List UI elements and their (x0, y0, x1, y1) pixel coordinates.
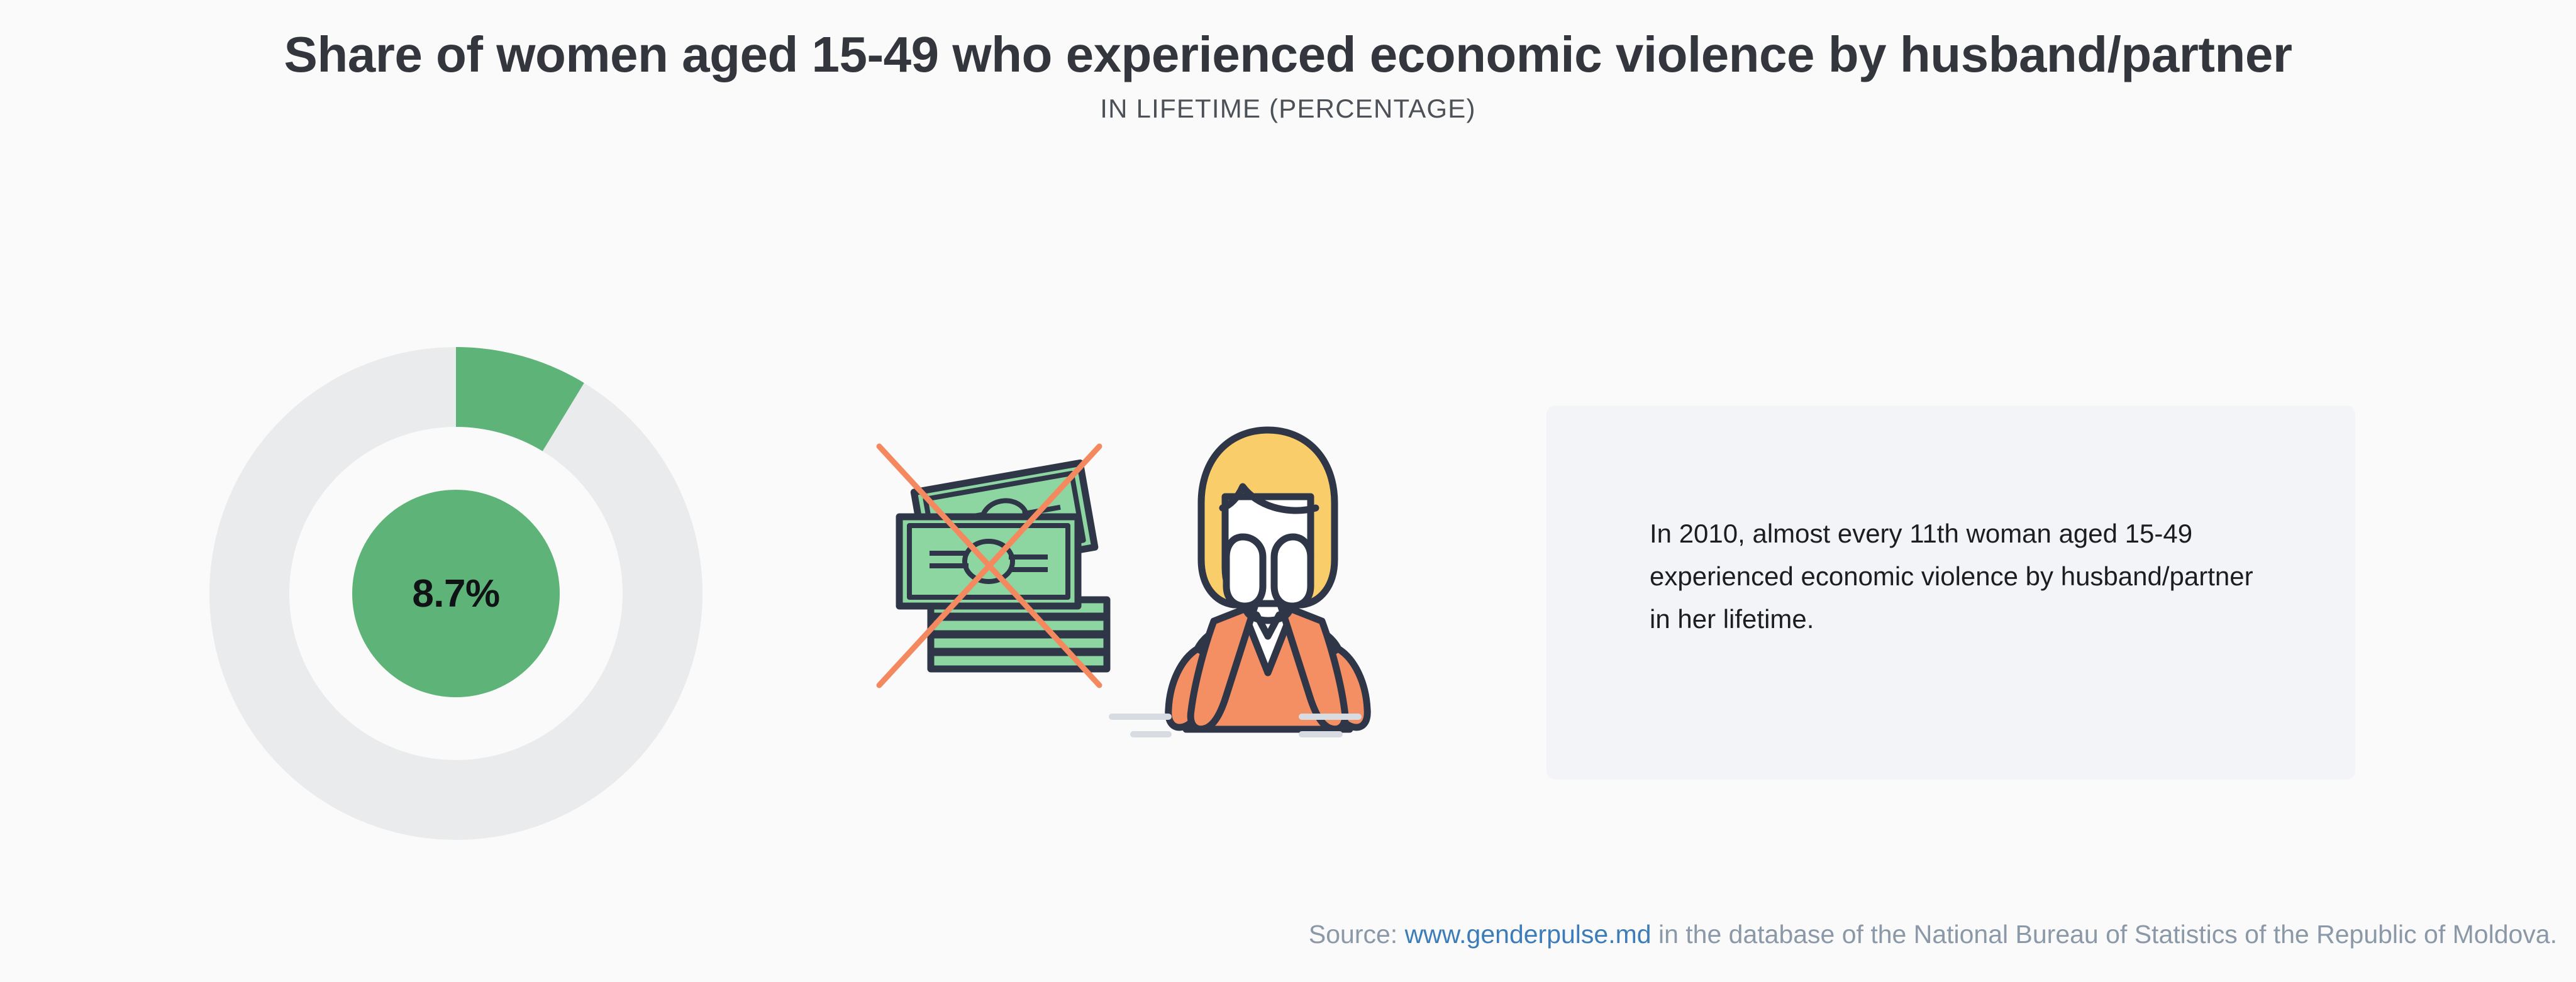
donut-chart: 8.7% (209, 347, 702, 840)
callout-box: In 2010, almost every 11th woman aged 15… (1546, 405, 2355, 780)
page-subtitle: IN LIFETIME (PERCENTAGE) (0, 93, 2576, 124)
source-link[interactable]: www.genderpulse.md (1405, 920, 1652, 949)
callout-text: In 2010, almost every 11th woman aged 15… (1650, 512, 2279, 641)
header: Share of women aged 15-49 who experience… (0, 0, 2576, 125)
left-hand (1226, 537, 1263, 606)
source-suffix: in the database of the National Bureau o… (1652, 920, 2557, 949)
illustration (862, 402, 1377, 754)
donut-value-label: 8.7% (209, 347, 702, 840)
main-content: 8.7% (0, 277, 2576, 830)
source-footer: Source: www.genderpulse.md in the databa… (0, 920, 2576, 949)
illustration-svg (862, 402, 1377, 754)
source-prefix: Source: (1309, 920, 1405, 949)
woman-covering-face-icon (1169, 430, 1367, 729)
right-hand (1274, 537, 1311, 606)
page-title: Share of women aged 15-49 who experience… (266, 25, 2310, 84)
banknotes-stack-icon (899, 463, 1107, 669)
